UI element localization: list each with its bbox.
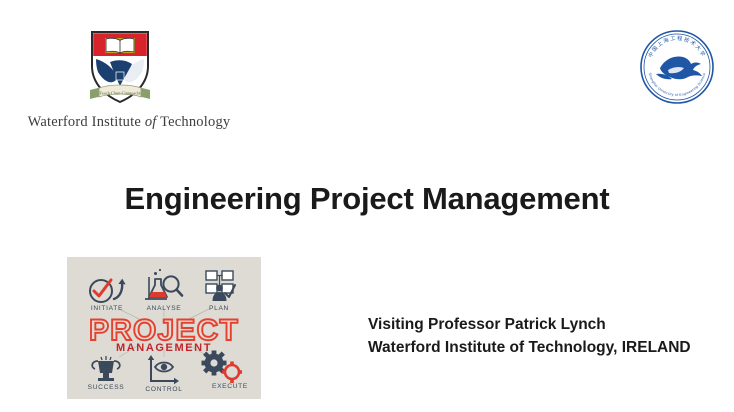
wit-wordmark-part1: Waterford Institute: [28, 114, 141, 130]
infographic-label-plan: PLAN: [209, 305, 229, 312]
presenter-name: Visiting Professor Patrick Lynch: [368, 313, 691, 336]
page-title: Engineering Project Management: [0, 181, 734, 217]
wit-crest-icon: Feach Chun Cinnteacht: [86, 26, 154, 112]
sues-seal-icon: 中国上海工程技术大学 Shanghai University of Engine…: [638, 28, 716, 106]
wit-wordmark-of: of: [145, 114, 157, 130]
infographic-subhead: MANAGEMENT: [116, 342, 212, 354]
presenter-affiliation: Waterford Institute of Technology, IRELA…: [368, 336, 691, 359]
infographic-label-analyse: ANALYSE: [147, 305, 182, 312]
wit-wordmark-part2: Technology: [160, 114, 230, 130]
infographic-label-control: CONTROL: [145, 386, 182, 393]
presenter-block: Visiting Professor Patrick Lynch Waterfo…: [368, 313, 691, 360]
wit-logo-block: Feach Chun Cinnteacht Waterford Institut…: [24, 26, 234, 138]
svg-text:Feach Chun Cinnteacht: Feach Chun Cinnteacht: [99, 90, 141, 95]
wit-wordmark: Waterford Institute of Technology: [24, 114, 234, 131]
infographic-label-execute: EXECUTE: [212, 383, 248, 390]
infographic-label-success: SUCCESS: [88, 384, 125, 391]
infographic-label-initiate: INITIATE: [91, 305, 123, 312]
project-management-infographic: INITIATE ANALYSE PLAN PR: [67, 257, 261, 399]
